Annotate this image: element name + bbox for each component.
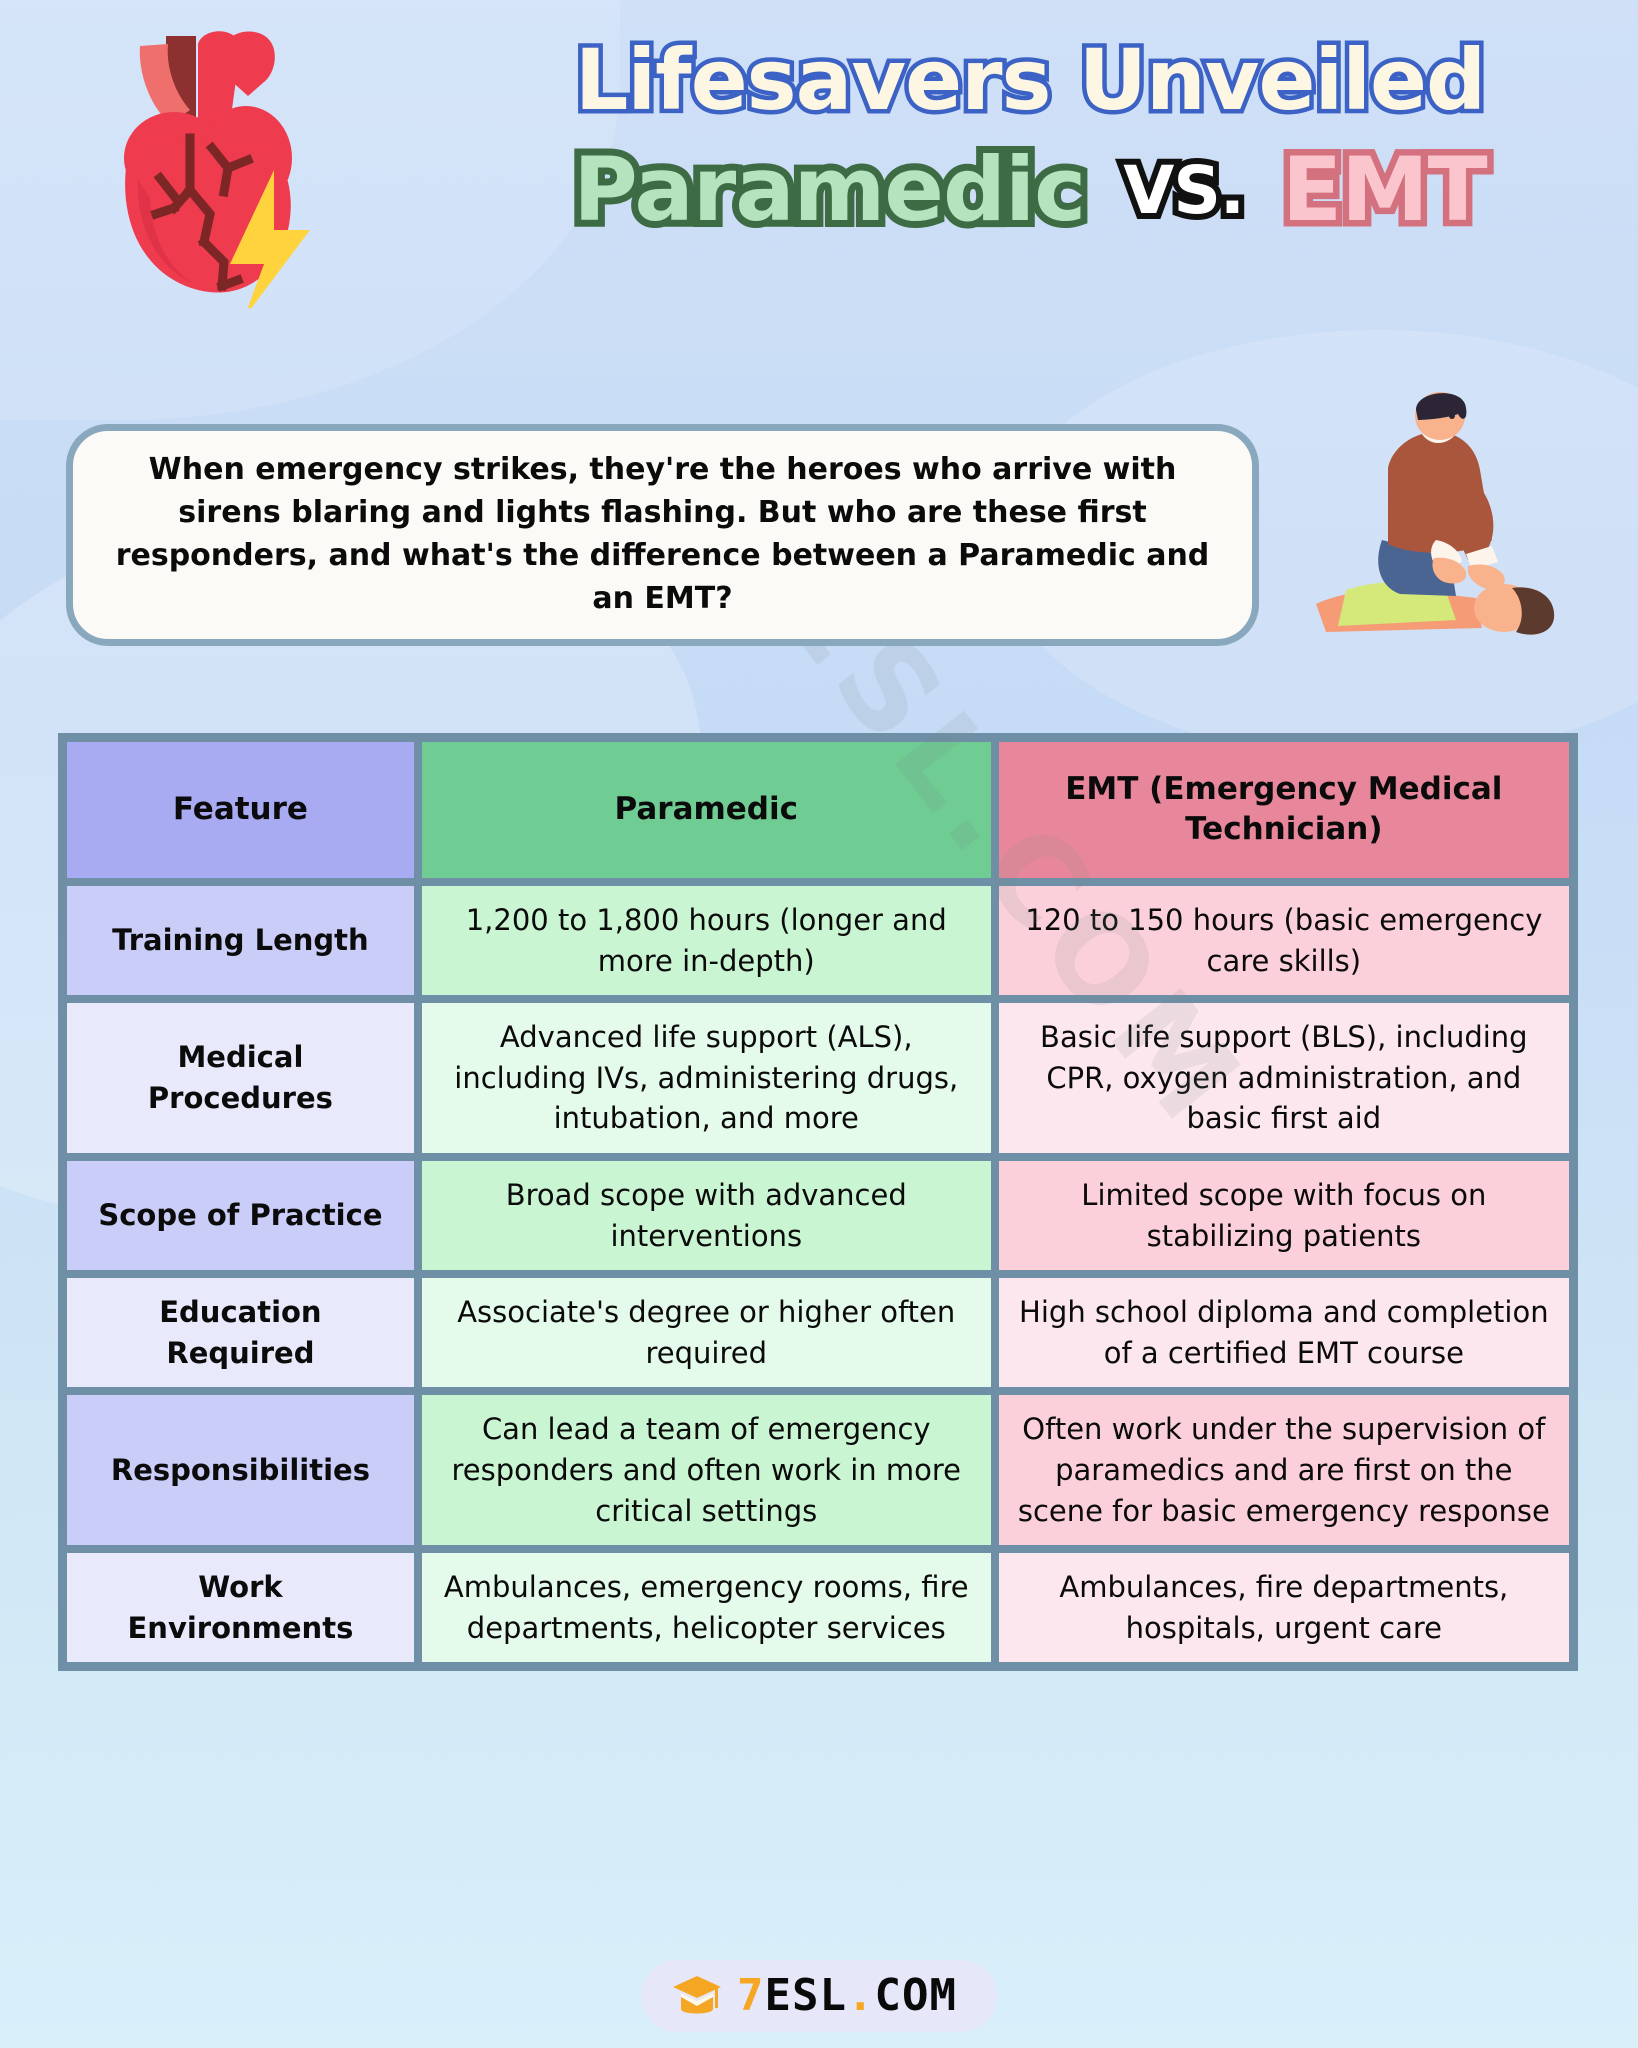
cell-emt: 120 to 150 hours (basic emergency care s…	[995, 882, 1573, 999]
vs-word: VS.	[1123, 156, 1244, 225]
cell-paramedic: Can lead a team of emergency responders …	[418, 1391, 995, 1549]
table-row: Training Length 1,200 to 1,800 hours (lo…	[63, 882, 1573, 999]
logo-dot: .	[847, 1970, 875, 2021]
logo-text: 7ESL.COM	[737, 1974, 957, 2018]
table-row: Work Environments Ambulances, emergency …	[63, 1549, 1573, 1666]
table-row: Responsibilities Can lead a team of emer…	[63, 1391, 1573, 1549]
cell-emt: Ambulances, fire departments, hospitals,…	[995, 1549, 1573, 1666]
heart-icon	[78, 18, 378, 308]
cell-emt: Often work under the supervision of para…	[995, 1391, 1573, 1549]
cell-paramedic: Associate's degree or higher often requi…	[418, 1274, 995, 1391]
versus-row: Paramedic VS. EMT	[460, 144, 1600, 236]
table-header-row: Feature Paramedic EMT (Emergency Medical…	[63, 738, 1573, 882]
table-head: Feature Paramedic EMT (Emergency Medical…	[63, 738, 1573, 882]
cell-emt: High school diploma and completion of a …	[995, 1274, 1573, 1391]
intro-text: When emergency strikes, they're the hero…	[73, 449, 1252, 621]
table-row: Scope of Practice Broad scope with advan…	[63, 1157, 1573, 1274]
graduation-cap-icon	[671, 1973, 723, 2019]
site-logo[interactable]: 7ESL.COM	[641, 1960, 997, 2032]
cell-feature: Scope of Practice	[63, 1157, 418, 1274]
column-header-emt: EMT (Emergency Medical Technician)	[995, 738, 1573, 882]
page-header: Lifesavers Unveiled Paramedic VS. EMT	[0, 0, 1638, 400]
page-title: Lifesavers Unveiled	[460, 38, 1600, 122]
cell-feature: Medical Procedures	[63, 999, 418, 1157]
table-body: Training Length 1,200 to 1,800 hours (lo…	[63, 882, 1573, 1666]
cell-feature: Responsibilities	[63, 1391, 418, 1549]
cell-emt: Basic life support (BLS), including CPR,…	[995, 999, 1573, 1157]
cell-feature: Training Length	[63, 882, 418, 999]
logo-seven: 7	[737, 1970, 765, 2021]
cell-paramedic: Advanced life support (ALS), including I…	[418, 999, 995, 1157]
comparison-table-wrapper: Feature Paramedic EMT (Emergency Medical…	[58, 733, 1578, 1671]
cell-paramedic: 1,200 to 1,800 hours (longer and more in…	[418, 882, 995, 999]
logo-esl: ESL	[765, 1970, 847, 2021]
paramedic-word: Paramedic	[573, 144, 1085, 236]
cell-paramedic: Ambulances, emergency rooms, fire depart…	[418, 1549, 995, 1666]
cell-emt: Limited scope with focus on stabilizing …	[995, 1157, 1573, 1274]
cell-feature: Work Environments	[63, 1549, 418, 1666]
emt-word: EMT	[1282, 144, 1487, 236]
comparison-table: Feature Paramedic EMT (Emergency Medical…	[58, 733, 1578, 1671]
cell-paramedic: Broad scope with advanced interventions	[418, 1157, 995, 1274]
title-block: Lifesavers Unveiled Paramedic VS. EMT	[460, 38, 1600, 236]
column-header-paramedic: Paramedic	[418, 738, 995, 882]
logo-com: COM	[875, 1970, 957, 2021]
column-header-feature: Feature	[63, 738, 418, 882]
cpr-illustration-icon	[1316, 390, 1586, 640]
table-row: Education Required Associate's degree or…	[63, 1274, 1573, 1391]
table-row: Medical Procedures Advanced life support…	[63, 999, 1573, 1157]
intro-callout: When emergency strikes, they're the hero…	[66, 424, 1259, 646]
cell-feature: Education Required	[63, 1274, 418, 1391]
page-footer: 7ESL.COM	[0, 1960, 1638, 2032]
